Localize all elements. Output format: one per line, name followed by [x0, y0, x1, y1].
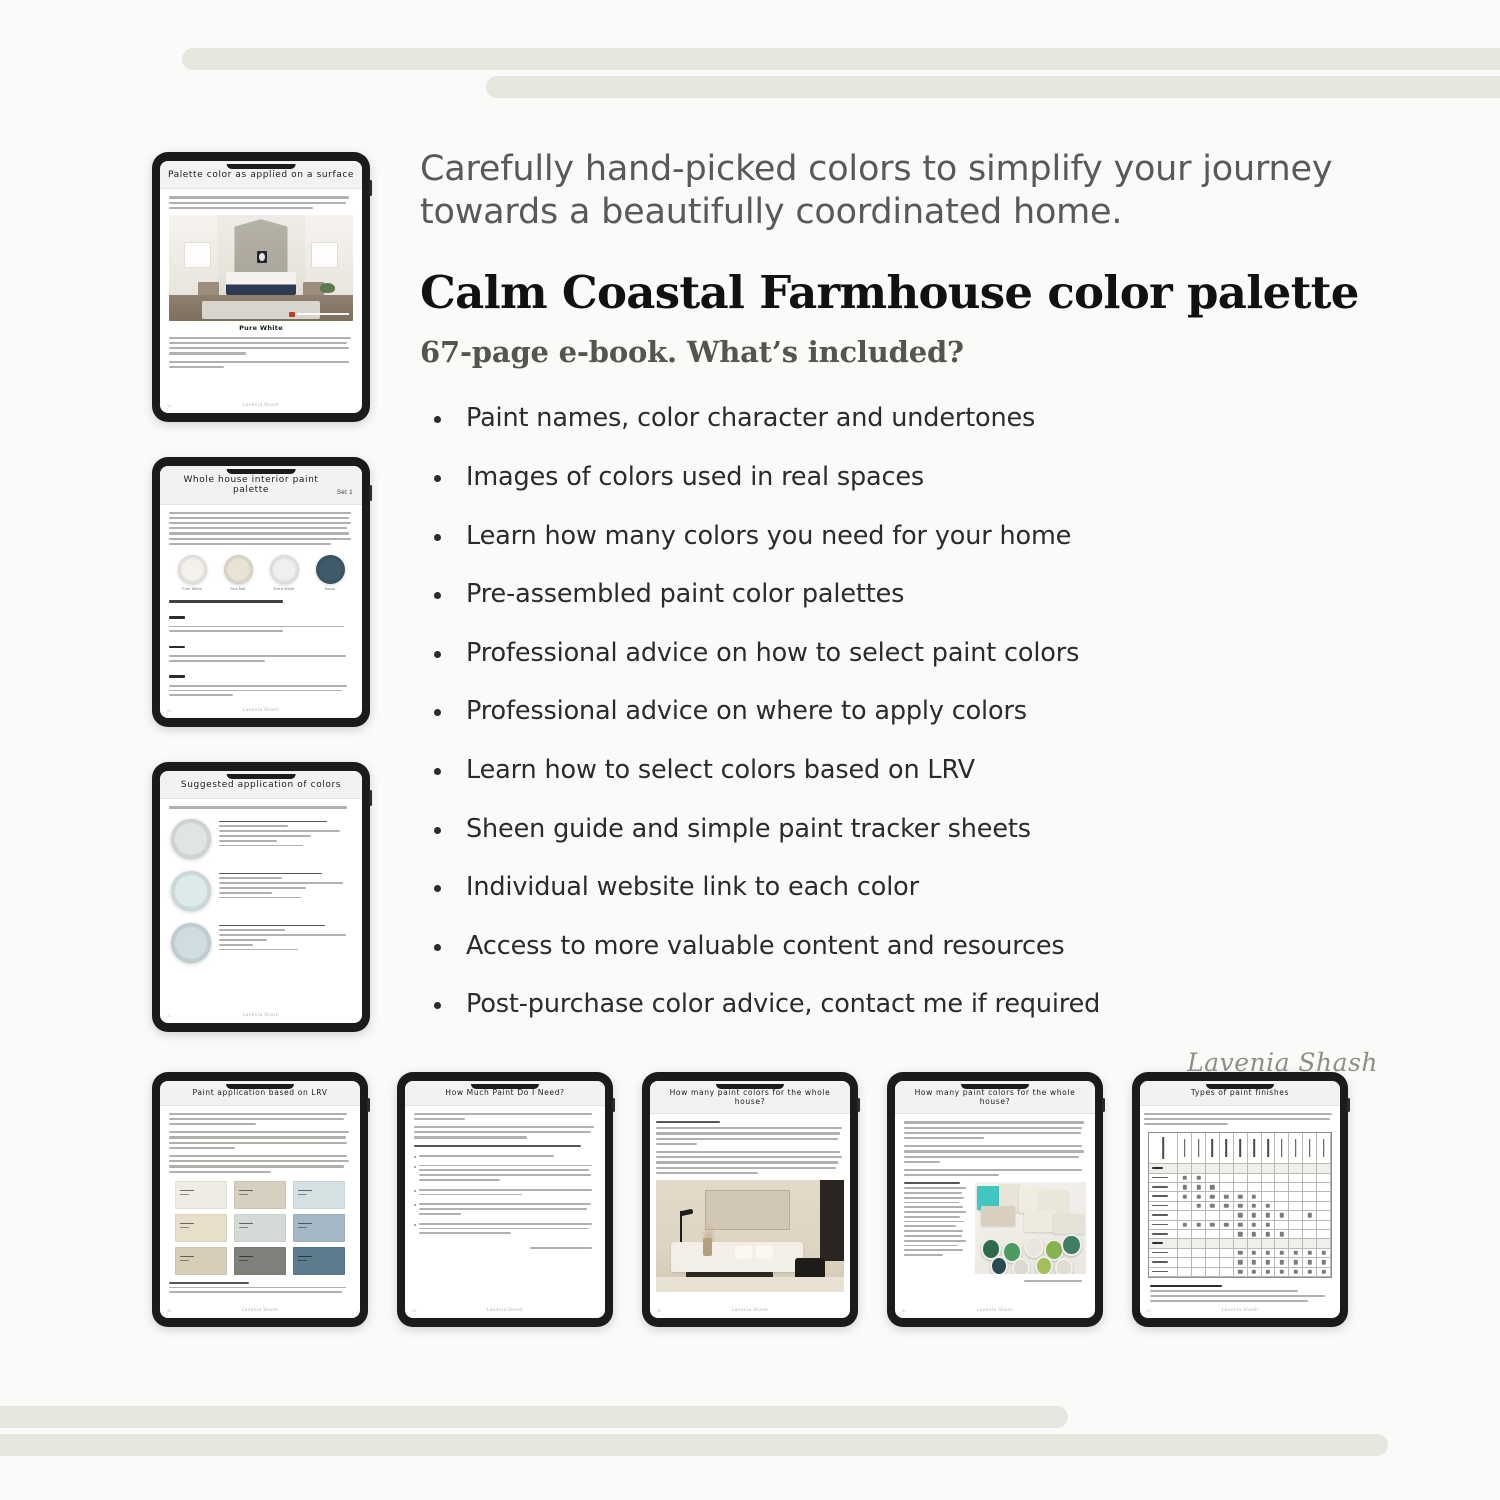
list-item	[414, 1155, 596, 1160]
color-note	[169, 637, 353, 662]
camera-notch-icon	[227, 774, 296, 779]
table-header-cell	[1192, 1133, 1206, 1164]
color-note	[169, 667, 353, 696]
sheen-definitions-legend	[1150, 1285, 1330, 1302]
lrv-swatch-grid	[175, 1181, 345, 1275]
intro-paragraph	[169, 806, 353, 808]
table-row-label	[1149, 1268, 1178, 1277]
table-header-cell	[1248, 1133, 1262, 1164]
page-title: Types of paint finishes	[1146, 1089, 1334, 1098]
table-section-label	[1149, 1164, 1178, 1173]
photo-credit-tag	[289, 312, 349, 317]
footer-signature: Lavenia Shash	[242, 1308, 279, 1313]
paragraph	[1144, 1113, 1336, 1126]
paragraph	[904, 1145, 1086, 1163]
list-item	[414, 1165, 596, 1184]
paragraph	[414, 1126, 596, 1139]
tablet-screen: How many paint colors for the whole hous…	[650, 1081, 850, 1318]
lrv-swatch[interactable]	[293, 1214, 345, 1242]
page-footer: 50 Lavenia Shash	[650, 1302, 850, 1318]
page-number: 15	[167, 403, 171, 408]
tablet-side-button	[369, 485, 372, 501]
paragraph	[414, 1113, 596, 1120]
table-header-cell	[1149, 1133, 1178, 1164]
page-footer: 31 Lavenia Shash	[160, 1007, 362, 1023]
tablet-screen: Paint application based on LRV	[160, 1081, 360, 1318]
list-item	[414, 1189, 596, 1199]
page-number: 50	[657, 1308, 661, 1313]
paragraph	[904, 1121, 1086, 1139]
list-item: Professional advice on how to select pai…	[420, 638, 1410, 669]
page-footer: 15 Lavenia Shash	[160, 397, 362, 413]
list-item: Sheen guide and simple paint tracker she…	[420, 814, 1410, 845]
page-number: 38	[167, 1308, 171, 1313]
camera-notch-icon	[471, 1084, 539, 1089]
page-number: 57	[1147, 1308, 1151, 1313]
tablet-side-button	[612, 1098, 615, 1112]
table-header-cell	[1303, 1133, 1317, 1164]
tagline: Carefully hand-picked colors to simplify…	[420, 148, 1410, 235]
tablet-side-button	[369, 790, 372, 806]
page-footer: 51 Lavenia Shash	[895, 1302, 1095, 1318]
table-row-label	[1149, 1221, 1178, 1230]
lrv-swatch[interactable]	[175, 1214, 227, 1242]
color-note	[169, 608, 353, 633]
tablet-screen: How many paint colors for the whole hous…	[895, 1081, 1095, 1318]
color-name-label: Pure White	[169, 324, 353, 332]
tablet-screen: Whole house interior paint palette Set 1	[160, 466, 362, 718]
page-title: Suggested application of colors	[166, 780, 356, 790]
page-title: How many paint colors for the whole hous…	[901, 1089, 1089, 1106]
paragraph	[904, 1169, 1086, 1176]
tablet-preview-suggested-application[interactable]: Suggested application of colors	[152, 762, 370, 1032]
swatch-circle	[224, 555, 253, 584]
promo-stage: Palette color as applied on a surface	[0, 0, 1500, 1500]
tablet-screen: Palette color as applied on a surface	[160, 161, 362, 413]
tablet-side-button	[857, 1098, 860, 1112]
page-footer: 44 Lavenia Shash	[405, 1302, 605, 1318]
set-badge: Set 1	[337, 490, 353, 496]
section-heading	[414, 1145, 581, 1147]
paragraph	[656, 1151, 844, 1174]
table-row-label	[1149, 1249, 1178, 1258]
swatch-label: Sea Salt	[217, 587, 259, 591]
swatch-circle	[316, 555, 345, 584]
swatch-circle	[171, 871, 211, 911]
paint-swatch[interactable]: Extra White	[263, 555, 305, 591]
camera-notch-icon	[716, 1084, 784, 1089]
table-row-label	[1149, 1183, 1178, 1192]
page-number: 44	[412, 1308, 416, 1313]
table-header-cell	[1206, 1133, 1220, 1164]
lrv-swatch[interactable]	[234, 1214, 286, 1242]
page-title: Calm Coastal Farmhouse color palette	[420, 269, 1410, 318]
intro-paragraph	[169, 196, 353, 209]
footer-signature: Lavenia Shash	[1222, 1308, 1259, 1313]
footer-signature: Lavenia Shash	[977, 1308, 1014, 1313]
page-footer: 57 Lavenia Shash	[1140, 1302, 1340, 1318]
page-number: 31	[167, 1013, 171, 1018]
table-row-label	[1149, 1192, 1178, 1201]
tablet-preview-how-many-colors-a[interactable]: How many paint colors for the whole hous…	[642, 1072, 858, 1327]
table-row-label	[1149, 1174, 1178, 1183]
tablet-preview-palette-on-surface[interactable]: Palette color as applied on a surface	[152, 152, 370, 422]
footer-signature: Lavenia Shash	[243, 708, 280, 713]
instruction-list	[414, 1155, 596, 1237]
page-title: How many paint colors for the whole hous…	[656, 1089, 844, 1106]
lrv-swatch[interactable]	[175, 1181, 227, 1209]
tablet-preview-how-much-paint[interactable]: How Much Paint Do I Need?	[397, 1072, 613, 1327]
application-text	[219, 923, 351, 954]
promo-content: Carefully hand-picked colors to simplify…	[420, 148, 1410, 1077]
table-header-cell	[1317, 1133, 1331, 1164]
footer-signature: Lavenia Shash	[487, 1308, 524, 1313]
table-header-cell	[1234, 1133, 1248, 1164]
tablet-screen: How Much Paint Do I Need?	[405, 1081, 605, 1318]
swatch-label: Pure White	[171, 587, 213, 591]
table-header-cell	[1178, 1133, 1192, 1164]
tablet-side-button	[369, 180, 372, 196]
swatch-circle	[270, 555, 299, 584]
tablet-preview-how-many-colors-b[interactable]: How many paint colors for the whole hous…	[887, 1072, 1103, 1327]
page-body	[1140, 1106, 1340, 1302]
page-body: Pure White Sea Salt Extra White Naval	[160, 505, 362, 702]
table-section-label	[1149, 1239, 1178, 1248]
list-item: Learn how to select colors based on LRV	[420, 755, 1410, 786]
swatch-label: Extra White	[263, 587, 305, 591]
lrv-swatch[interactable]	[234, 1247, 286, 1275]
example-of-use	[169, 361, 353, 368]
lrv-swatch[interactable]	[234, 1181, 286, 1209]
camera-notch-icon	[226, 1084, 294, 1089]
camera-notch-icon	[227, 469, 296, 474]
page-footer: 38 Lavenia Shash	[160, 1302, 360, 1318]
author-signature: Lavenia Shash	[420, 1048, 1410, 1077]
tablet-screen: Suggested application of colors	[160, 771, 362, 1023]
two-column-section	[904, 1182, 1086, 1274]
page-footer: 22 Lavenia Shash	[160, 702, 362, 718]
application-text	[219, 871, 351, 902]
table-row-label	[1149, 1258, 1178, 1267]
table-row-label	[1149, 1230, 1178, 1239]
tablet-side-button	[1102, 1098, 1105, 1112]
table-header-cell	[1275, 1133, 1289, 1164]
paint-swatch[interactable]: Sea Salt	[217, 555, 259, 591]
footer-signature: Lavenia Shash	[243, 403, 280, 408]
swatch-circle	[171, 819, 211, 859]
paint-swatch-row: Pure White Sea Salt Extra White Naval	[169, 555, 353, 591]
cohesive-palette-column	[904, 1182, 970, 1274]
page-body: Pure White	[160, 189, 362, 397]
application-entry	[171, 871, 351, 911]
paint-cans-photo-column	[975, 1182, 1086, 1274]
application-entry	[171, 923, 351, 963]
tablet-preview-paint-finishes[interactable]: Types of paint finishes	[1132, 1072, 1348, 1327]
paragraph	[169, 1113, 351, 1126]
swatch-label: Naval	[309, 587, 351, 591]
table-row-label	[1149, 1202, 1178, 1211]
tablet-preview-lrv[interactable]: Paint application based on LRV	[152, 1072, 368, 1327]
closing-paragraph	[169, 1282, 351, 1293]
application-text	[219, 819, 351, 850]
list-item	[414, 1223, 596, 1237]
feature-list: Paint names, color character and underto…	[420, 403, 1410, 1020]
camera-notch-icon	[1206, 1084, 1274, 1089]
page-body	[895, 1114, 1095, 1302]
list-item: Learn how many colors you need for your …	[420, 521, 1410, 552]
swatch-circle	[171, 923, 211, 963]
page-body	[405, 1106, 605, 1302]
continued-note	[530, 1247, 592, 1249]
sub-heading	[656, 1121, 720, 1123]
list-item: Post-purchase color advice, contact me i…	[420, 989, 1410, 1020]
page-body	[650, 1114, 850, 1302]
subheading: 67-page e-book. What’s included?	[420, 335, 1410, 369]
list-item: Access to more valuable content and reso…	[420, 931, 1410, 962]
list-item: Images of colors used in real spaces	[420, 462, 1410, 493]
table-row-label	[1149, 1211, 1178, 1220]
application-entry	[171, 819, 351, 859]
list-item: Pre-assembled paint color palettes	[420, 579, 1410, 610]
paragraph	[169, 1155, 351, 1173]
table-header-cell	[1262, 1133, 1276, 1164]
page-title: How Much Paint Do I Need?	[411, 1089, 599, 1098]
lrv-swatch[interactable]	[293, 1181, 345, 1209]
page-body	[160, 799, 362, 1007]
color-description	[169, 337, 353, 355]
lrv-swatch[interactable]	[175, 1247, 227, 1275]
tablet-side-button	[1347, 1098, 1350, 1112]
intro-paragraph	[169, 512, 353, 545]
page-title: Whole house interior paint palette	[166, 475, 356, 496]
camera-notch-icon	[961, 1084, 1029, 1089]
footer-signature: Lavenia Shash	[243, 1013, 280, 1018]
list-item: Paint names, color character and underto…	[420, 403, 1410, 434]
list-item	[414, 1203, 596, 1217]
paragraph	[656, 1127, 844, 1145]
living-room-photo	[656, 1180, 844, 1292]
paint-cans-photo	[975, 1182, 1086, 1274]
tablet-side-button	[367, 1098, 370, 1112]
page-number: 51	[902, 1308, 906, 1313]
paragraph	[169, 1131, 351, 1149]
page-number: 22	[167, 708, 171, 713]
interior-room-photo	[169, 215, 353, 321]
swatch-circle	[178, 555, 207, 584]
table-header-cell	[1289, 1133, 1303, 1164]
paint-finishes-table	[1148, 1132, 1332, 1278]
tablet-screen: Types of paint finishes	[1140, 1081, 1340, 1318]
list-item: Individual website link to each color	[420, 872, 1410, 903]
page-body	[160, 1106, 360, 1302]
camera-notch-icon	[227, 164, 296, 169]
tablet-preview-whole-house-palette[interactable]: Whole house interior paint palette Set 1	[152, 457, 370, 727]
paint-swatch[interactable]: Naval	[309, 555, 351, 591]
page-title: Paint application based on LRV	[166, 1089, 354, 1098]
list-item: Professional advice on where to apply co…	[420, 696, 1410, 727]
paint-swatch[interactable]: Pure White	[171, 555, 213, 591]
lrv-swatch[interactable]	[293, 1247, 345, 1275]
section-heading	[169, 600, 283, 603]
continued-note	[1024, 1280, 1082, 1282]
table-header-cell	[1220, 1133, 1234, 1164]
page-title: Palette color as applied on a surface	[166, 170, 356, 180]
footer-signature: Lavenia Shash	[732, 1308, 769, 1313]
